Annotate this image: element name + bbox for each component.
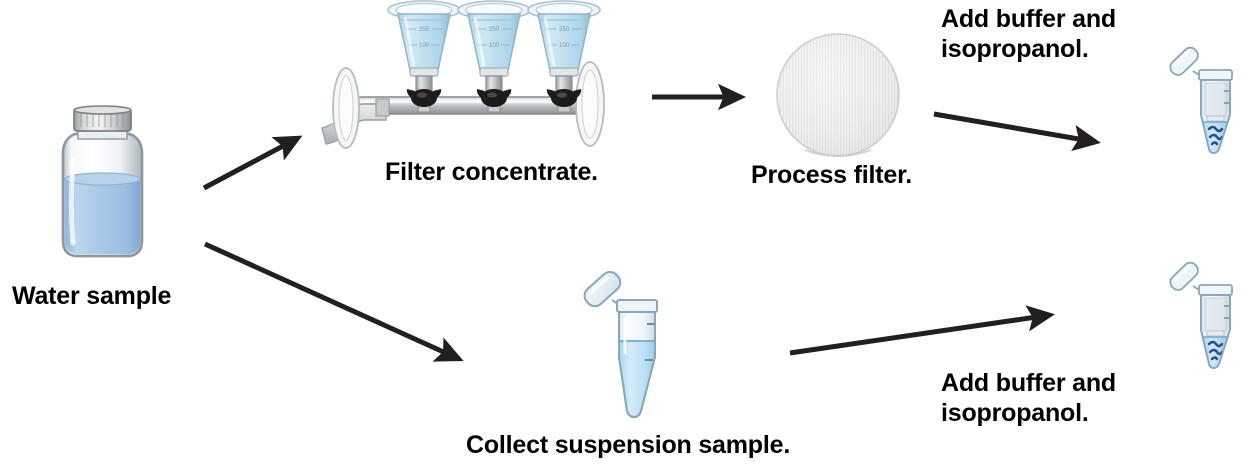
workflow-diagram: Water sample [0,0,1245,469]
lysis-tube-bottom-caption: Add buffer and isopropanol. [941,368,1191,428]
microcentrifuge-tube-small-icon [1163,258,1239,370]
microcentrifuge-tube-icon [568,262,668,420]
arrow-sample-to-filter [204,138,298,188]
filter-manifold-caption: Filter concentrate. [385,157,685,187]
filter-disc [775,32,901,158]
filter-manifold: 250 100 [318,0,618,150]
arrow-disc-to-tube [934,114,1096,142]
arrow-sample-to-suspension [205,244,459,359]
arrow-suspension-to-tube [790,315,1050,353]
suspension-tube-caption: Collect suspension sample. [466,430,866,460]
lysis-tube-top-caption: Add buffer and isopropanol. [941,4,1191,64]
water-sample-caption: Water sample [12,281,212,311]
filter-disc-caption: Process filter. [751,160,1011,190]
suspension-sample-tube [568,262,668,420]
filter-manifold-icon: 250 100 [318,0,618,150]
filter-disc-icon [775,32,901,158]
bottle-icon [45,105,160,265]
lysis-tube-bottom [1163,258,1239,370]
water-sample-bottle [45,105,160,265]
